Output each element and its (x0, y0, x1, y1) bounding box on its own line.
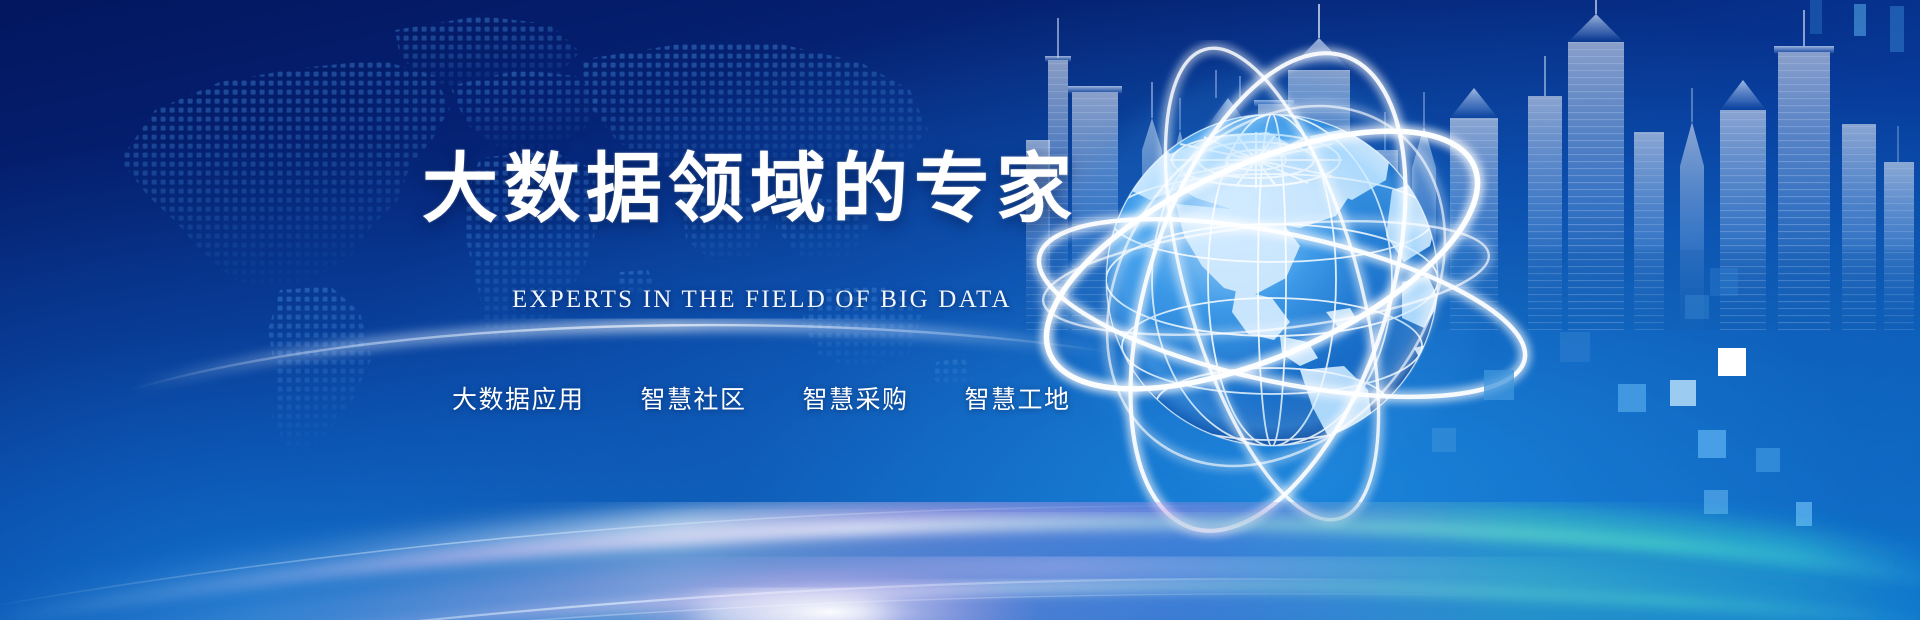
decorative-squares-icon (1460, 300, 1920, 600)
page-title: 大数据领域的专家 (422, 152, 1078, 228)
nav-item-big-data-application[interactable]: 大数据应用 (452, 380, 585, 416)
hero-banner: 大数据领域的专家 EXPERTS IN THE FIELD OF BIG DAT… (0, 0, 1920, 620)
page-subtitle: EXPERTS IN THE FIELD OF BIG DATA (512, 286, 1012, 314)
nav-item-smart-construction-site[interactable]: 智慧工地 (965, 380, 1071, 416)
city-skyline-icon (1020, 0, 1920, 330)
nav-item-smart-procurement[interactable]: 智慧采购 (803, 380, 909, 416)
banner-nav: 大数据应用 智慧社区 智慧采购 智慧工地 (452, 380, 1071, 416)
banner-copy: 大数据领域的专家 EXPERTS IN THE FIELD OF BIG DAT… (0, 0, 1100, 620)
nav-item-smart-community[interactable]: 智慧社区 (641, 380, 747, 416)
